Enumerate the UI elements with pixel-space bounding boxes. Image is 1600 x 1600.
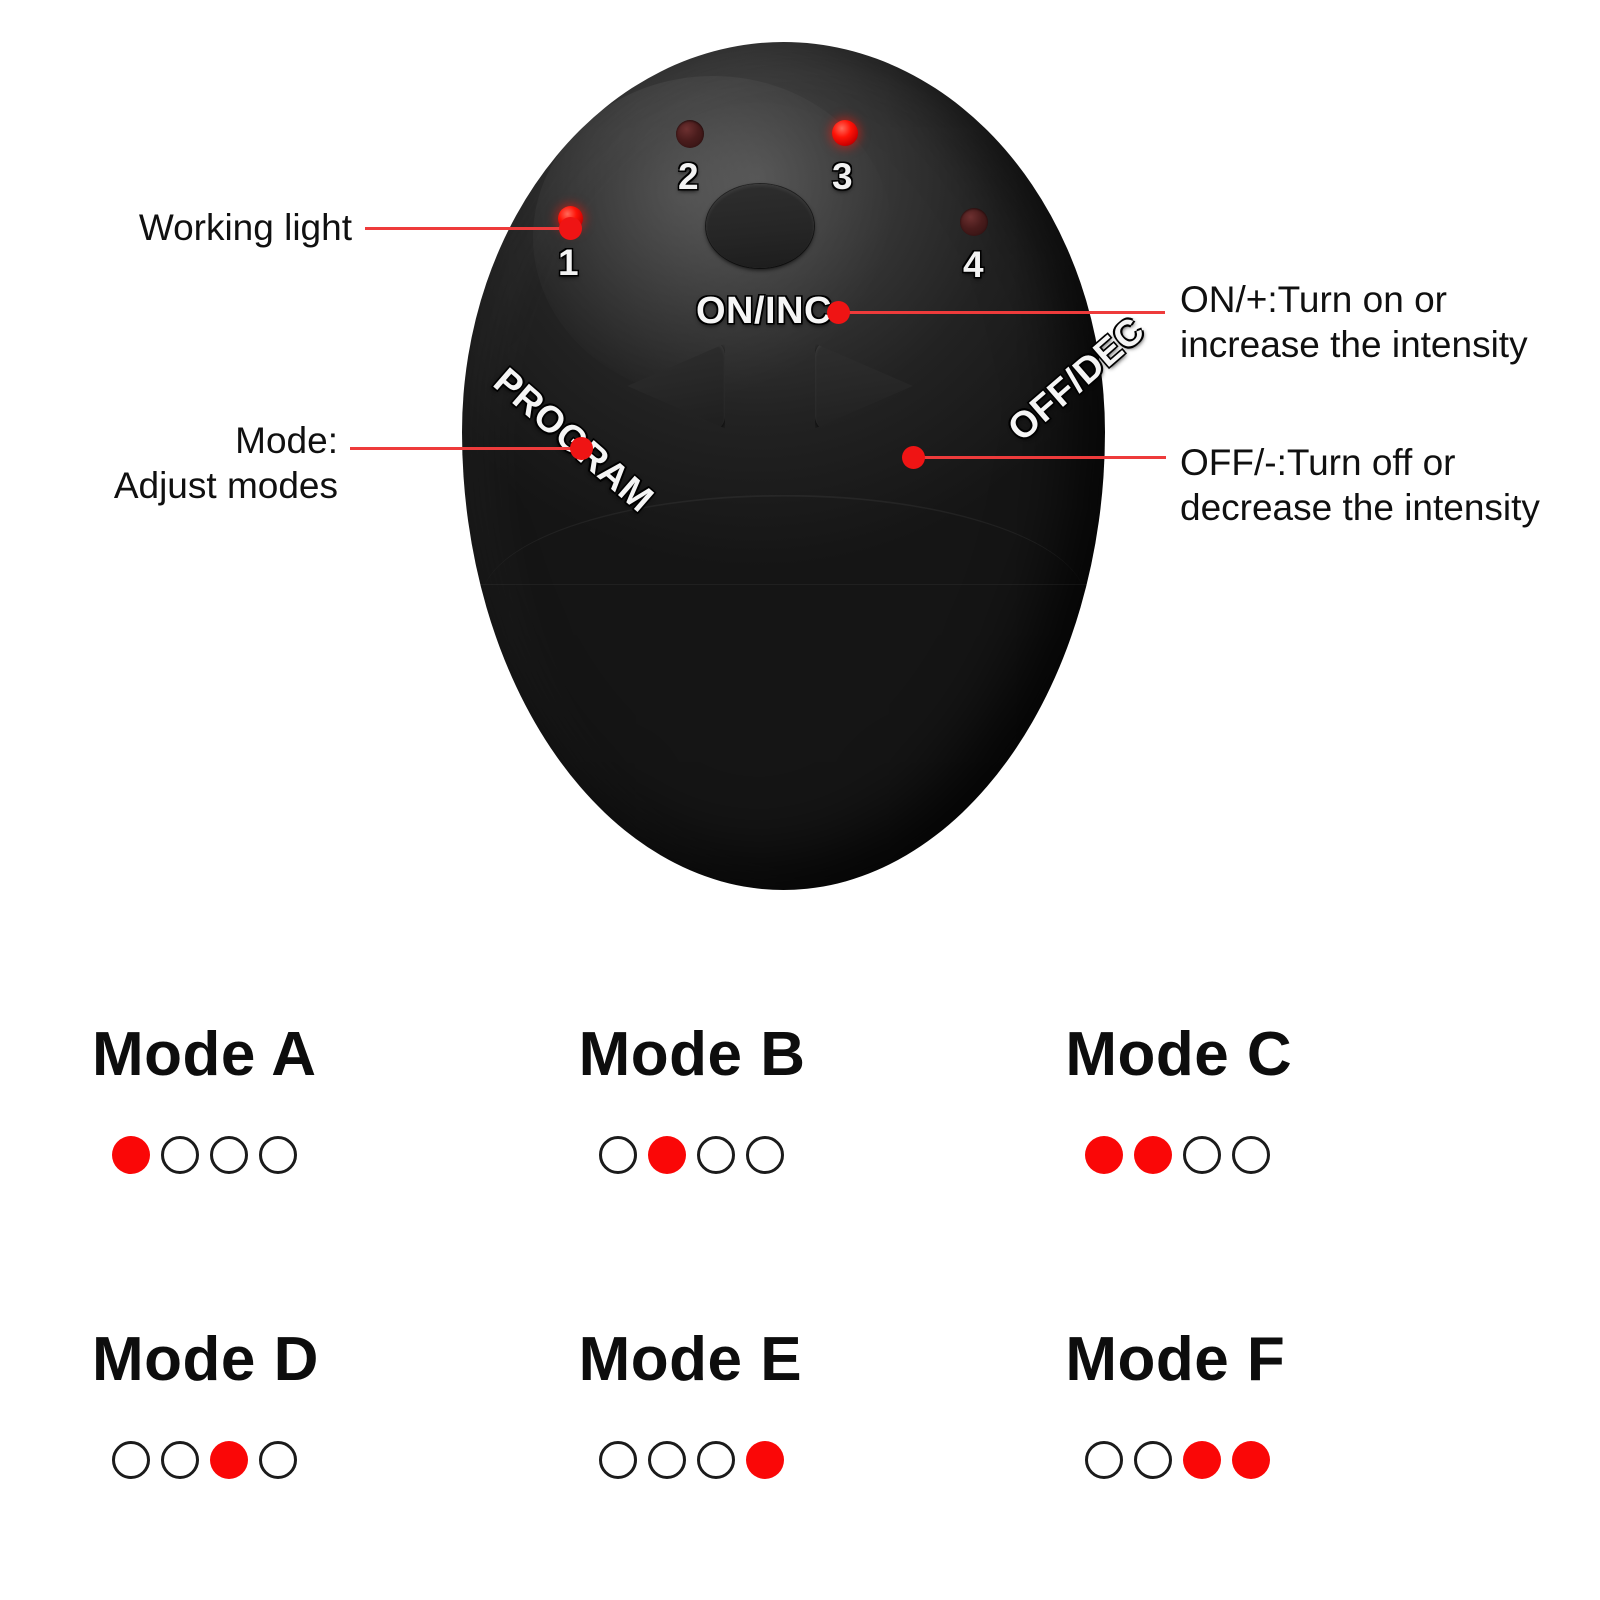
mode-dot-hollow: [697, 1441, 735, 1479]
led-indicator-4: [960, 208, 988, 236]
mode-dot-filled: [1085, 1136, 1123, 1174]
mode-dot-hollow: [648, 1441, 686, 1479]
leader-dot-mode: [570, 437, 593, 460]
mode-title-e: Mode E: [579, 1329, 1044, 1391]
mode-dots-d: [112, 1441, 557, 1479]
mode-title-f: Mode F: [1065, 1329, 1530, 1391]
mode-dot-filled: [1134, 1136, 1172, 1174]
mode-dot-hollow: [259, 1136, 297, 1174]
mode-dots-a: [112, 1136, 557, 1174]
mode-dot-hollow: [1134, 1441, 1172, 1479]
led-number-2: 2: [678, 158, 699, 195]
leader-line-mode: [350, 447, 582, 450]
mode-dot-hollow: [697, 1136, 735, 1174]
led-number-4: 4: [963, 246, 984, 283]
mode-dot-hollow: [112, 1441, 150, 1479]
mode-dot-hollow: [1232, 1136, 1270, 1174]
mode-cell-d: Mode D: [70, 1295, 557, 1600]
leader-dot-working-light: [559, 217, 582, 240]
mode-title-a: Mode A: [92, 1024, 557, 1086]
led-indicator-3: [832, 120, 858, 146]
mode-dot-hollow: [161, 1136, 199, 1174]
mode-legend: Mode A Mode B Mode C Mode D Mode E Mode …: [0, 990, 1600, 1600]
leader-dot-on-plus: [827, 301, 850, 324]
mode-title-c: Mode C: [1065, 1024, 1530, 1086]
callout-mode: Mode: Adjust modes: [0, 418, 338, 508]
callout-on-plus: ON/+:Turn on or increase the intensity: [1180, 277, 1598, 367]
device-illustration: 1 2 3 4 ON/INC PROGRAM OFF/DEC Working l…: [0, 0, 1600, 960]
mode-cell-b: Mode B: [557, 990, 1044, 1295]
mode-dot-hollow: [210, 1136, 248, 1174]
mode-dots-f: [1085, 1441, 1530, 1479]
mode-dot-hollow: [599, 1136, 637, 1174]
mode-dot-filled: [112, 1136, 150, 1174]
leader-line-off-minus: [918, 456, 1166, 459]
label-on-inc: ON/INC: [696, 290, 832, 333]
mode-dot-filled: [1183, 1441, 1221, 1479]
leader-line-on-plus: [845, 311, 1165, 314]
led-number-1: 1: [558, 244, 579, 281]
power-button[interactable]: [706, 184, 814, 268]
leader-line-working-light: [365, 227, 570, 230]
mode-dot-hollow: [161, 1441, 199, 1479]
device-seam-line-secondary: [462, 534, 1105, 585]
mode-dot-hollow: [1183, 1136, 1221, 1174]
mode-dot-hollow: [599, 1441, 637, 1479]
product-diagram-page: 1 2 3 4 ON/INC PROGRAM OFF/DEC Working l…: [0, 0, 1600, 1600]
mode-cell-a: Mode A: [70, 990, 557, 1295]
led-indicator-2: [676, 120, 704, 148]
leader-dot-off-minus: [902, 446, 925, 469]
callout-off-minus: OFF/-:Turn off or decrease the intensity: [1180, 440, 1600, 530]
mode-cell-e: Mode E: [557, 1295, 1044, 1600]
mode-dot-hollow: [259, 1441, 297, 1479]
led-number-3: 3: [832, 158, 853, 195]
mode-dot-hollow: [746, 1136, 784, 1174]
mode-dots-c: [1085, 1136, 1530, 1174]
mode-cell-c: Mode C: [1043, 990, 1530, 1295]
mode-dot-filled: [1232, 1441, 1270, 1479]
mode-dot-filled: [746, 1441, 784, 1479]
device-seam-line: [481, 495, 1085, 709]
mode-dot-filled: [648, 1136, 686, 1174]
device-body: [462, 42, 1105, 890]
mode-dots-e: [599, 1441, 1044, 1479]
mode-title-d: Mode D: [92, 1329, 557, 1391]
callout-working-light: Working light: [0, 205, 352, 250]
mode-title-b: Mode B: [579, 1024, 1044, 1086]
mode-cell-f: Mode F: [1043, 1295, 1530, 1600]
mode-dots-b: [599, 1136, 1044, 1174]
mode-dot-hollow: [1085, 1441, 1123, 1479]
mode-dot-filled: [210, 1441, 248, 1479]
